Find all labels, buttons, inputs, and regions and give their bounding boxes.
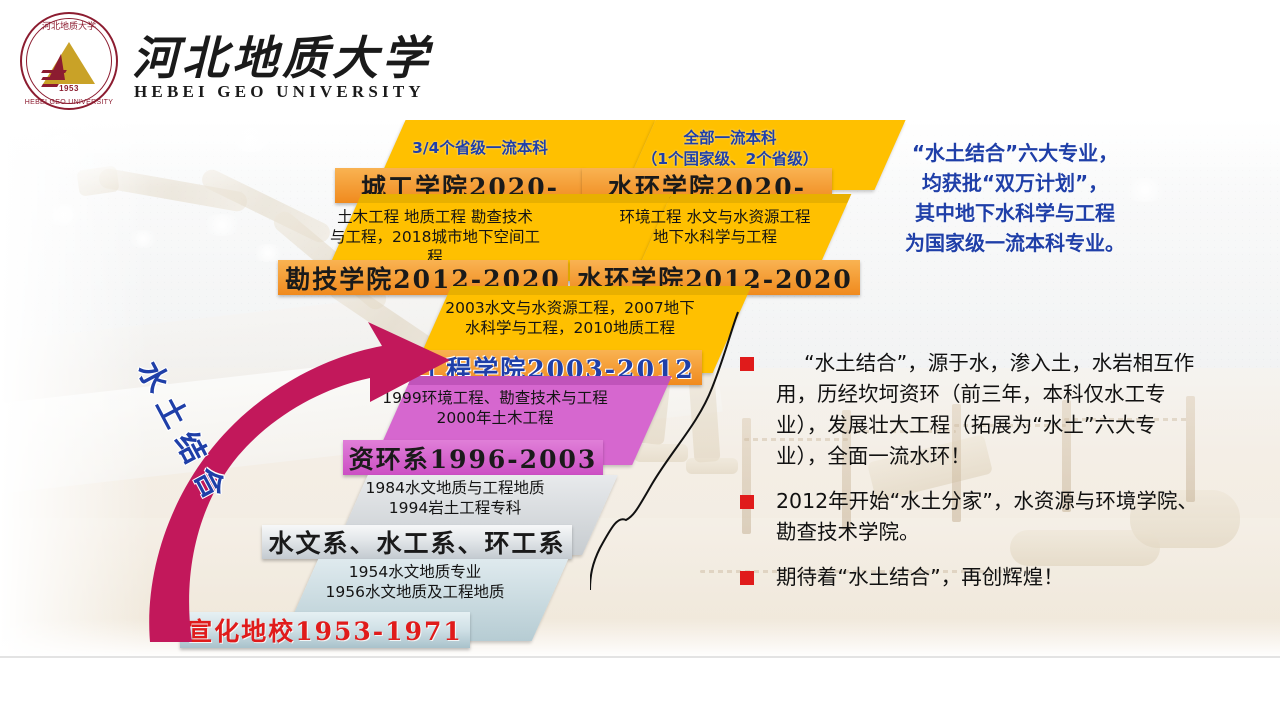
footer-divider (0, 656, 1280, 658)
bullet-item: “水土结合”，源于水，渗入土，水岩相互作用，历经坎坷资环（前三年，本科仅水工专业… (740, 348, 1200, 472)
bullet-text: “水土结合”，源于水，渗入土，水岩相互作用，历经坎坷资环（前三年，本科仅水工专业… (776, 348, 1200, 472)
seal-strata-line (41, 77, 63, 80)
bullet-item: 2012年开始“水土分家”，水资源与环境学院、勘查技术学院。 (740, 486, 1200, 548)
seal-top-text: 河北地质大学 (20, 19, 118, 32)
tier-subtext: 土木工程 地质工程 勘查技术 与工程，2018城市地下空间工 程 (270, 207, 600, 267)
slab-top-face (357, 194, 671, 203)
slide-header: 河北地质大学 1953 HEBEI GEO UNIVERSITY 河北地质大学 … (0, 0, 1280, 120)
bullet-square-icon (740, 495, 754, 509)
tier-caption: 全部一流本科 （1个国家级、2个省级） (580, 128, 880, 170)
footer-area (0, 656, 1280, 720)
bullet-square-icon (740, 357, 754, 371)
university-name-cn: 河北地质大学 (132, 22, 432, 88)
bullet-square-icon (740, 571, 754, 585)
brace-path (590, 312, 738, 590)
slab-top-face (447, 286, 751, 295)
highlight-note: “水土结合”六大专业， 均获批“双万计划”， 其中地下水科学与工程 为国家级一流… (845, 138, 1185, 258)
bullet-list: “水土结合”，源于水，渗入土，水岩相互作用，历经坎坷资环（前三年，本科仅水工专业… (740, 348, 1200, 607)
seal-strata-line (41, 70, 67, 73)
seal-bottom-text: HEBEI GEO UNIVERSITY (20, 99, 118, 106)
bullet-item: 期待着“水土结合”，再创辉煌！ (740, 562, 1200, 593)
university-name-en: HEBEI GEO UNIVERSITY (134, 82, 425, 102)
slab-top-face (667, 194, 851, 203)
university-seal-icon: 河北地质大学 1953 HEBEI GEO UNIVERSITY (20, 12, 118, 110)
tier-subtext: 环境工程 水文与水资源工程 地下水科学与工程 (560, 207, 870, 247)
bullet-text: 2012年开始“水土分家”，水资源与环境学院、勘查技术学院。 (776, 486, 1200, 548)
bullet-text: 期待着“水土结合”，再创辉煌！ (776, 562, 1064, 593)
seal-year: 1953 (20, 84, 118, 93)
